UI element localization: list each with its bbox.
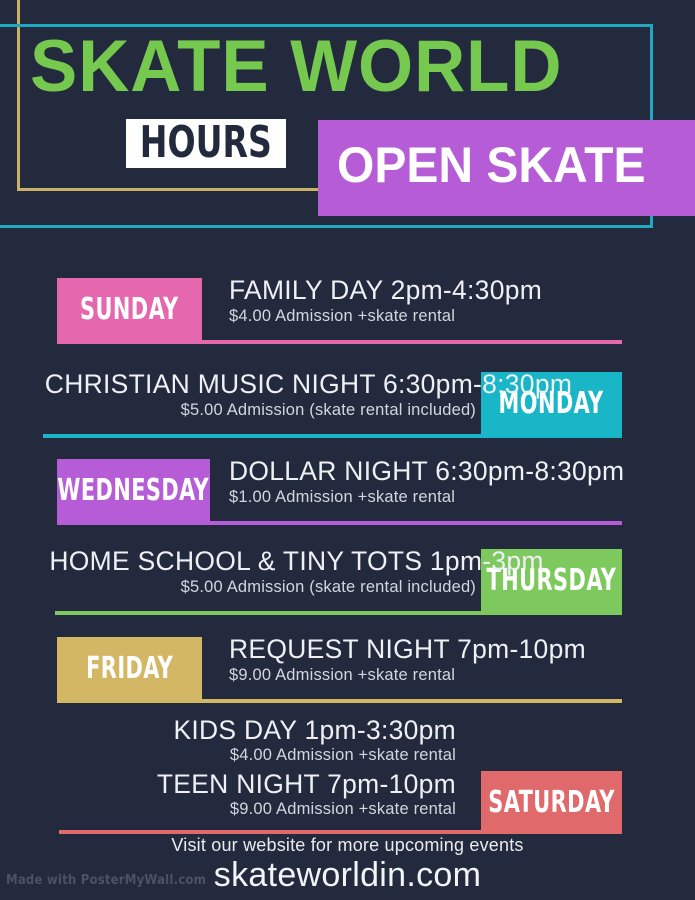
event-title: REQUEST NIGHT 7pm-10pm [229,634,586,664]
hours-badge: HOURS [126,119,286,168]
hours-badge-label: HOURS [140,120,272,165]
row-divider [43,434,622,438]
watermark-label: Made with PosterMyWall.com [6,873,206,888]
day-badge-label: FRIDAY [86,651,173,686]
schedule-row-friday: FRIDAY REQUEST NIGHT 7pm-10pm $9.00 Admi… [0,637,695,707]
poster-canvas: SKATE WORLD HOURS OPEN SKATE SUNDAY FAMI… [0,0,695,900]
day-badge-label: WEDNESDAY [58,473,210,508]
event-subtitle: $4.00 Admission +skate rental [229,306,455,326]
event-subtitle: $1.00 Admission +skate rental [229,487,455,507]
event-subtitle: $4.00 Admission +skate rental [49,745,456,765]
event-title: KIDS DAY 1pm-3:30pm [44,715,456,745]
event-subtitle: $9.00 Admission +skate rental [229,665,455,685]
row-divider [57,699,622,703]
schedule-row-saturday: SATURDAY KIDS DAY 1pm-3:30pm $4.00 Admis… [0,715,695,835]
day-badge-wednesday: WEDNESDAY [57,459,210,521]
schedule-row-wednesday: WEDNESDAY DOLLAR NIGHT 6:30pm-8:30pm $1.… [0,459,695,529]
schedule-row-sunday: SUNDAY FAMILY DAY 2pm-4:30pm $4.00 Admis… [0,278,695,348]
event-title: DOLLAR NIGHT 6:30pm-8:30pm [229,456,624,486]
event-subtitle: $5.00 Admission (skate rental included) [49,400,476,420]
footer-tagline: Visit our website for more upcoming even… [0,835,695,856]
day-badge-friday: FRIDAY [57,637,202,699]
event-title: FAMILY DAY 2pm-4:30pm [229,275,542,305]
event-subtitle: $9.00 Admission +skate rental [49,799,456,819]
schedule-row-thursday: THURSDAY HOME SCHOOL & TINY TOTS 1pm-3pm… [0,549,695,619]
schedule-row-monday: MONDAY CHRISTIAN MUSIC NIGHT 6:30pm-8:30… [0,372,695,442]
event-subtitle: $5.00 Admission (skate rental included) [49,577,476,597]
open-skate-label: OPEN SKATE [337,137,645,193]
day-badge-label: SATURDAY [488,785,615,820]
row-divider [57,340,622,344]
day-badge-saturday: SATURDAY [481,771,622,833]
row-divider [59,830,622,834]
day-badge-label: SUNDAY [80,292,178,327]
brand-title: SKATE WORLD [30,29,651,105]
row-divider [57,521,622,525]
event-title: HOME SCHOOL & TINY TOTS 1pm-3pm [49,546,461,576]
event-title: TEEN NIGHT 7pm-10pm [44,769,456,799]
poster-header: SKATE WORLD HOURS OPEN SKATE [0,0,695,236]
row-divider [55,611,622,615]
open-skate-banner: OPEN SKATE [318,120,695,216]
day-badge-sunday: SUNDAY [57,278,202,340]
event-title: CHRISTIAN MUSIC NIGHT 6:30pm-8:30pm [45,369,476,399]
